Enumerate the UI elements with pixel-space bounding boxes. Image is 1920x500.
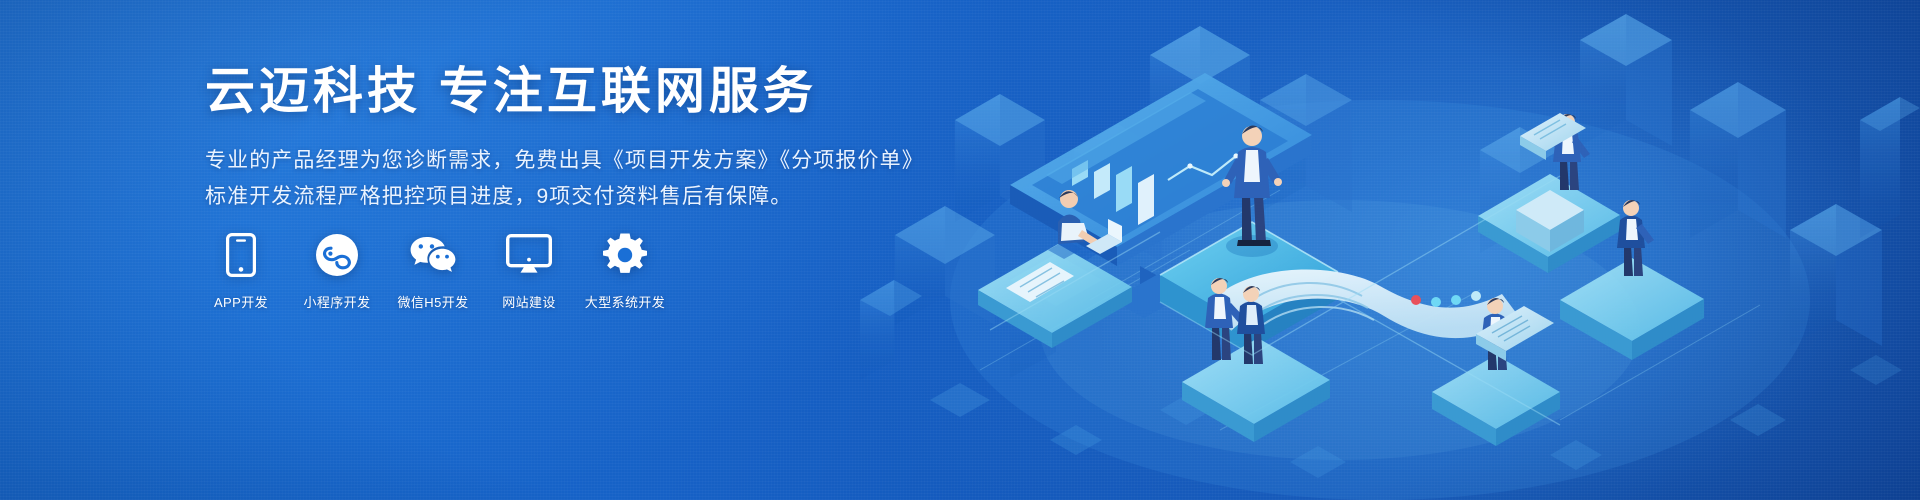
service-icon-row: APP开发 小程序开发 <box>205 232 661 311</box>
service-item-website[interactable]: 网站建设 <box>493 232 565 311</box>
service-label-website: 网站建设 <box>502 292 556 311</box>
illustration-container <box>860 0 1920 500</box>
monitor-icon <box>506 232 552 278</box>
service-label-miniprogram: 小程序开发 <box>303 292 370 311</box>
service-label-system: 大型系统开发 <box>585 292 665 311</box>
service-item-system[interactable]: 大型系统开发 <box>589 232 661 311</box>
banner-content: 云迈科技 专注互联网服务 专业的产品经理为您诊断需求，免费出具《项目开发方案》《… <box>205 62 965 215</box>
mini-program-icon <box>316 232 358 278</box>
service-item-miniprogram[interactable]: 小程序开发 <box>301 232 373 311</box>
wechat-icon <box>409 232 457 278</box>
service-item-app[interactable]: APP开发 <box>205 232 277 311</box>
banner-subtitle: 专业的产品经理为您诊断需求，免费出具《项目开发方案》《分项报价单》 标准开发流程… <box>205 143 965 215</box>
service-item-wechat[interactable]: 微信H5开发 <box>397 232 469 311</box>
page-title: 云迈科技 专注互联网服务 <box>205 62 965 121</box>
mobile-phone-icon <box>226 232 256 278</box>
hero-banner: 云迈科技 专注互联网服务 专业的产品经理为您诊断需求，免费出具《项目开发方案》《… <box>0 0 1920 500</box>
gear-icon <box>603 232 647 278</box>
service-label-app: APP开发 <box>214 292 268 311</box>
subtitle-line-1: 专业的产品经理为您诊断需求，免费出具《项目开发方案》《分项报价单》 <box>205 143 965 179</box>
service-label-wechat: 微信H5开发 <box>397 292 468 311</box>
subtitle-line-2: 标准开发流程严格把控项目进度，9项交付资料售后有保障。 <box>205 179 965 215</box>
isometric-data-dashboard-scene <box>860 0 1920 500</box>
